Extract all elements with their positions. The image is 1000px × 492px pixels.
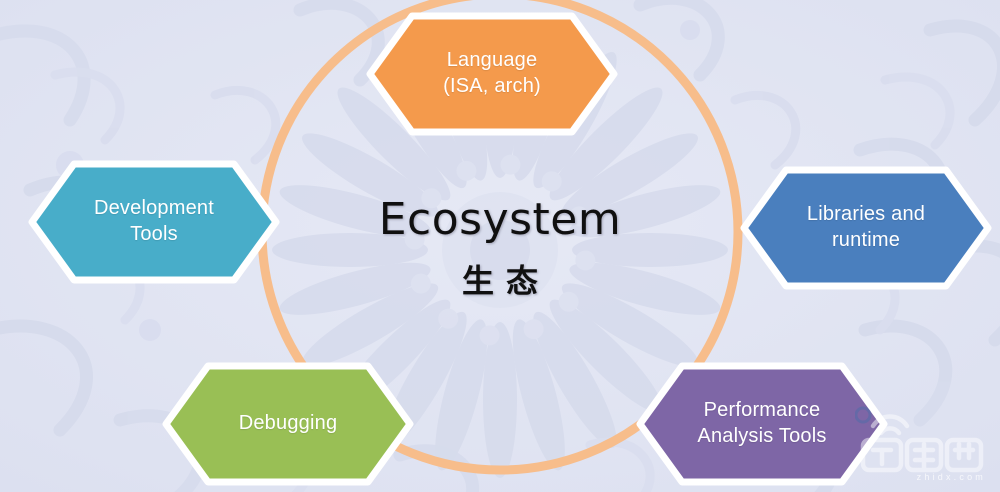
node-label-development: Development Tools: [64, 196, 244, 247]
node-label-performance: Performance Analysis Tools: [667, 398, 856, 449]
node-label-debugging: Debugging: [209, 411, 368, 437]
node-development[interactable]: Development Tools: [28, 160, 280, 284]
node-language[interactable]: Language (ISA, arch): [366, 12, 618, 136]
diagram-canvas: Language (ISA, arch) Libraries and runti…: [0, 0, 1000, 492]
node-label-language: Language (ISA, arch): [413, 48, 571, 99]
node-label-libraries: Libraries and runtime: [777, 202, 955, 253]
node-performance[interactable]: Performance Analysis Tools: [636, 362, 888, 486]
node-libraries[interactable]: Libraries and runtime: [740, 166, 992, 290]
node-debugging[interactable]: Debugging: [162, 362, 414, 486]
